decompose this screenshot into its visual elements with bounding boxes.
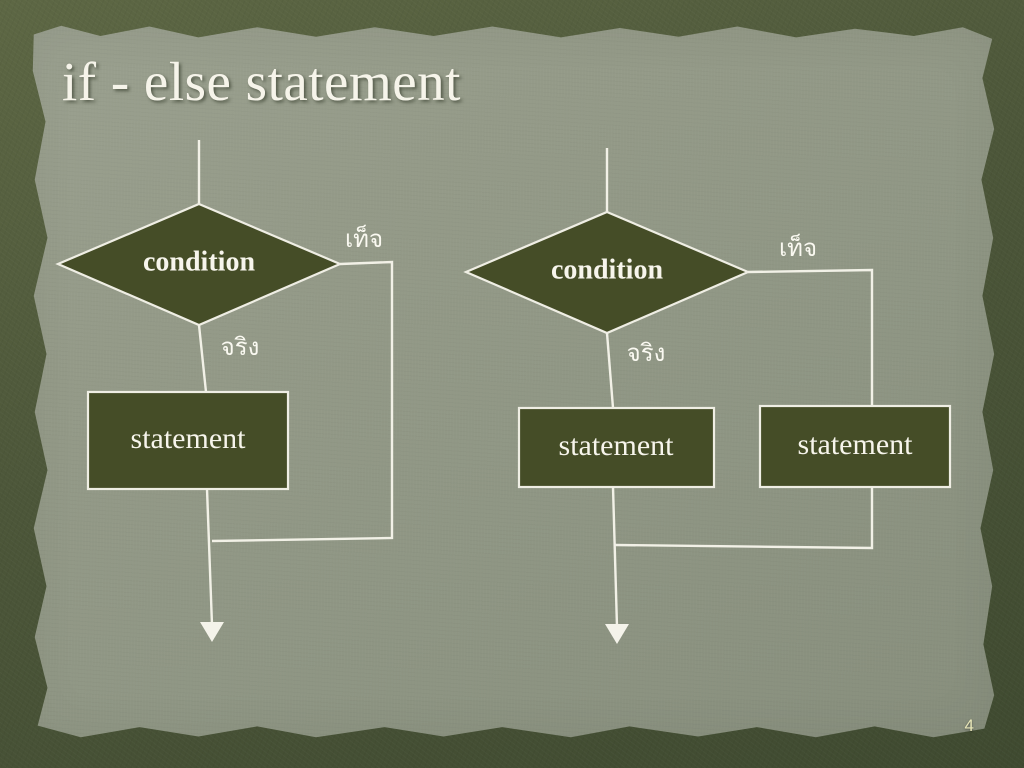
diagram-if-else-statement: condition เท็จ จริง statement statement xyxy=(466,148,950,644)
connector-true-left xyxy=(199,325,206,392)
arrow-head-right xyxy=(605,624,629,644)
decision-label-right: condition xyxy=(551,254,663,285)
branch-label-false-left: เท็จ xyxy=(345,224,383,253)
arrow-head-left xyxy=(200,622,224,642)
connector-exit-left xyxy=(207,489,212,625)
connector-false-right xyxy=(748,270,872,406)
branch-label-true-left: จริง xyxy=(221,333,260,361)
statement-label-right-true: statement xyxy=(559,429,675,462)
connector-merge-right xyxy=(615,487,872,548)
slide-canvas: if - else statement condition เท็จ จริง … xyxy=(0,0,1024,768)
statement-label-left: statement xyxy=(131,422,247,455)
statement-label-right-false: statement xyxy=(798,428,914,461)
branch-label-true-right: จริง xyxy=(627,339,666,367)
decision-label-left: condition xyxy=(143,246,255,277)
flowchart-diagram: condition เท็จ จริง statement condition … xyxy=(0,0,1024,768)
diagram-if-statement: condition เท็จ จริง statement xyxy=(58,140,392,642)
connector-exit-right xyxy=(613,487,617,627)
connector-true-right xyxy=(607,333,613,408)
branch-label-false-right: เท็จ xyxy=(779,233,817,262)
page-number: 4 xyxy=(965,716,974,736)
